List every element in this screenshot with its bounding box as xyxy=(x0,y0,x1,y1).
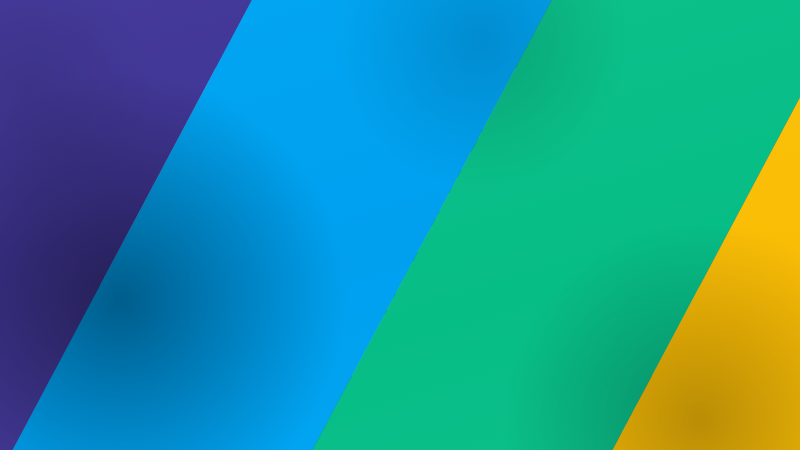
rainbow-background xyxy=(0,0,800,450)
quote-image: O MELHOR BEIJO COMEÇA NO PENSAMENTO, TOM… xyxy=(0,0,800,450)
